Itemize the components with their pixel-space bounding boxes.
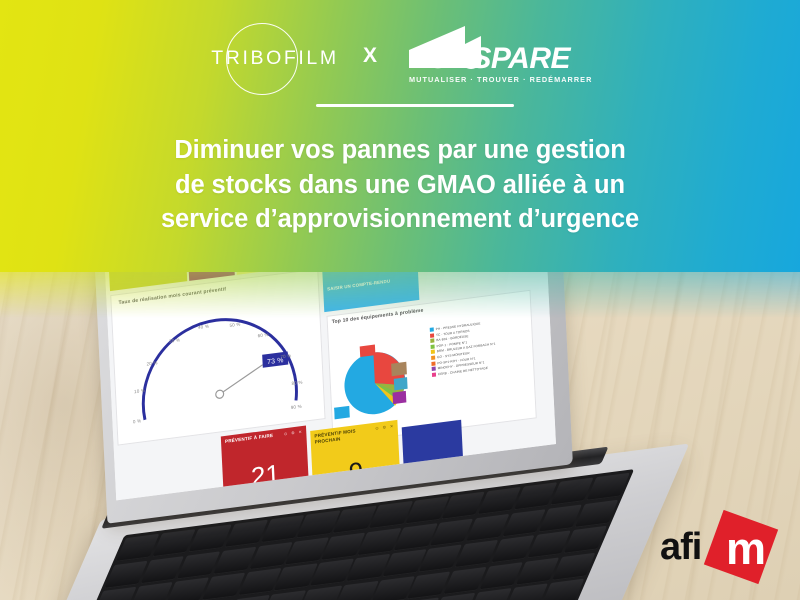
tile-actions[interactable]: ⊙ ⚙ ✕ [284, 429, 304, 436]
afi-m-letter: m [717, 524, 775, 574]
keyboard-key [335, 580, 379, 600]
tribofilm-logo-text: TRIBOFILM [211, 47, 338, 70]
gradient-banner-fade [0, 272, 800, 318]
sospare-tagline: MUTUALISER · TROUVER · REDÉMARRER [409, 75, 592, 84]
keyboard-key [540, 579, 584, 600]
svg-text:80 %: 80 % [291, 380, 302, 386]
svg-text:30 %: 30 % [169, 337, 180, 343]
keyboard-key [177, 551, 221, 579]
keyboard-key [141, 556, 185, 584]
keyboard-key [443, 566, 487, 594]
keyboard-key [502, 509, 546, 537]
keyboard-key [407, 571, 451, 599]
keyboard-key [466, 513, 510, 541]
headline: Diminuer vos pannes par une gestion de s… [0, 133, 800, 237]
svg-text:40 %: 40 % [198, 324, 209, 330]
legend-swatch [430, 339, 434, 344]
legend-swatch [430, 333, 434, 338]
keyboard-key [358, 527, 402, 555]
clock-icon [460, 47, 482, 69]
keyboard-key [285, 537, 329, 565]
afi-logo: afi m [660, 516, 780, 580]
legend-swatch [431, 361, 435, 366]
legend-swatch [432, 372, 436, 377]
tile-label: PRÉVENTIF À FAIRE [225, 431, 290, 445]
keyboard-key [129, 582, 173, 600]
pie-legend: PH - PRESSE HYDRAULIQUE TC - TOUR A TORN… [430, 315, 532, 378]
tribofilm-logo: TRIBOFILM [213, 19, 333, 97]
svg-text:60 %: 60 % [258, 332, 269, 338]
headline-line-3: service d’approvisionnement d’urgence [0, 202, 800, 237]
legend-swatch [431, 344, 435, 349]
keyboard-key [504, 583, 548, 600]
tile-label: PRÉVENTIF MOIS PROCHAIN [314, 425, 381, 445]
legend-swatch [432, 367, 436, 372]
logo-separator-x: X [363, 45, 377, 72]
keyboard-key [538, 504, 582, 532]
legend-swatch [431, 355, 435, 360]
keyboard-key [104, 560, 148, 588]
svg-text:50 %: 50 % [229, 322, 240, 328]
tile-actions[interactable]: ⊙ ⚙ ✕ [375, 423, 395, 430]
keyboard-key [249, 541, 293, 569]
svg-text:20 %: 20 % [146, 360, 157, 366]
sospare-logo-text: SOSPARE [429, 44, 570, 74]
keyboard-key [516, 557, 560, 585]
svg-text:90 %: 90 % [291, 404, 302, 410]
sospare-logo: SOSPARE MUTUALISER · TROUVER · REDÉMARRE… [407, 22, 587, 94]
divider [316, 104, 514, 107]
legend-swatch [431, 350, 435, 355]
keyboard-key [116, 534, 160, 562]
legend-swatch [430, 327, 434, 332]
keyboard-key [213, 546, 257, 574]
keyboard-key [321, 532, 365, 560]
headline-line-1: Diminuer vos pannes par une gestion [0, 133, 800, 168]
tile-value: 9 [312, 453, 400, 490]
headline-line-2: de stocks dans une GMAO alliée à un [0, 168, 800, 203]
dashboard-tile-preventif-a-faire[interactable]: PRÉVENTIF À FAIRE ⊙ ⚙ ✕ 21 [221, 426, 310, 501]
afi-logo-text: afi [660, 528, 701, 566]
keyboard-key [479, 562, 523, 590]
promotional-banner: CRÉER UNE DI ⊙ ⚙ ✕ 0 SAISIR UN COMPTE-RE… [0, 0, 800, 600]
svg-text:0 %: 0 % [133, 418, 142, 424]
tile-value: 21 [222, 457, 308, 494]
keyboard-key [394, 523, 438, 551]
logo-row: TRIBOFILM X SOSPARE MUTUALISER · TROUVER… [0, 18, 800, 98]
pie-chart [331, 326, 431, 430]
